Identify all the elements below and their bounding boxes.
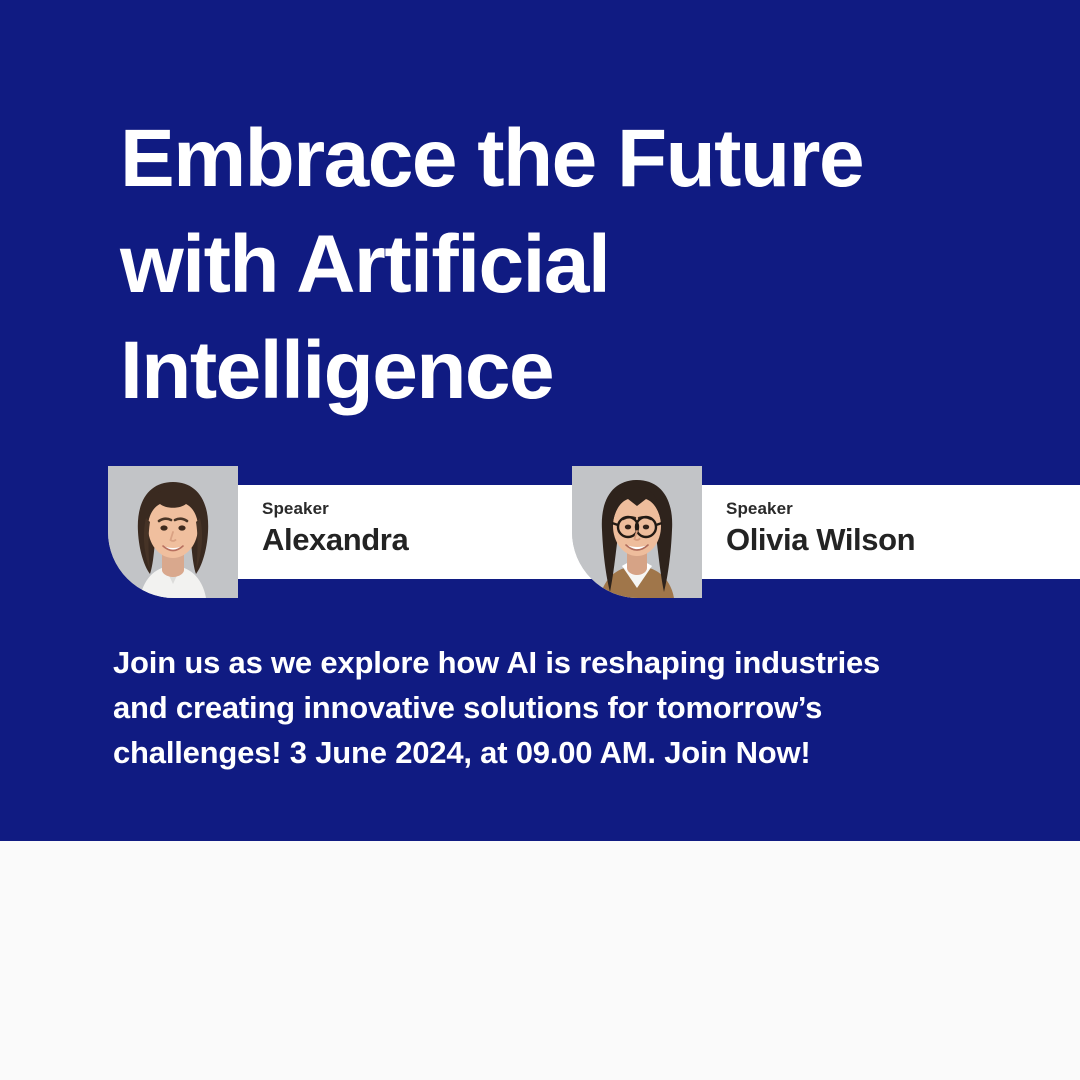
- speaker-name: Alexandra: [262, 522, 618, 558]
- speaker-list: Speaker Alexandra: [0, 466, 1080, 601]
- speaker-name: Olivia Wilson: [726, 522, 1080, 558]
- page-title: Embrace the Future with Artificial Intel…: [120, 106, 1020, 424]
- speaker-role-label: Speaker: [726, 499, 1080, 519]
- speaker-role-label: Speaker: [262, 499, 618, 519]
- speaker-info-panel: Speaker Alexandra: [228, 485, 618, 579]
- event-description: Join us as we explore how AI is reshapin…: [113, 640, 993, 775]
- speaker-card: Speaker Olivia Wilson: [572, 466, 972, 598]
- event-poster: Embrace the Future with Artificial Intel…: [0, 0, 1080, 1080]
- speaker-portrait-olivia: [572, 466, 702, 598]
- speaker-info-panel: Speaker Olivia Wilson: [692, 485, 1080, 579]
- hero-section: Embrace the Future with Artificial Intel…: [0, 0, 1080, 841]
- speaker-portrait-alexandra: [108, 466, 238, 598]
- footer-section: Capcut Free Registration! Follow our soc…: [0, 841, 1080, 1080]
- speaker-card: Speaker Alexandra: [108, 466, 508, 598]
